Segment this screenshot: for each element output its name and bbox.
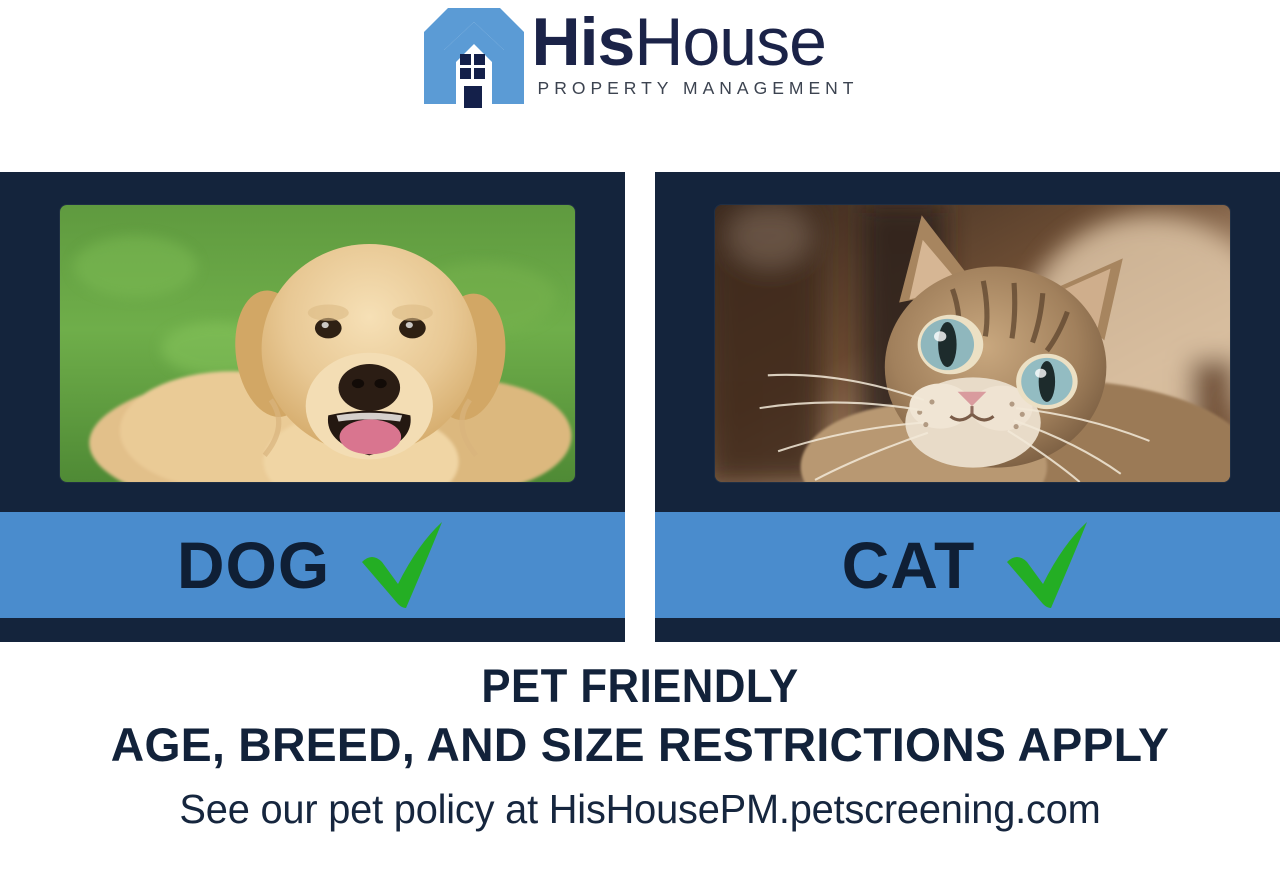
logo-lockup: His House PROPERTY MANAGEMENT xyxy=(422,8,859,108)
cat-photo-area xyxy=(655,172,1280,512)
brand-wordmark: His House PROPERTY MANAGEMENT xyxy=(532,8,859,99)
brand-name-light: House xyxy=(634,10,826,75)
pet-card-dog: DOG xyxy=(0,172,625,642)
headline-restrictions: AGE, BREED, AND SIZE RESTRICTIONS APPLY xyxy=(10,719,1271,772)
green-checkmark-icon xyxy=(1001,522,1093,608)
dog-label: DOG xyxy=(177,532,330,598)
golden-retriever-on-grass xyxy=(60,205,575,482)
pet-policy-url-line: See our pet policy at HisHousePM.petscre… xyxy=(19,785,1261,834)
house-w-logo-icon xyxy=(422,8,526,108)
dog-label-band: DOG xyxy=(0,512,625,618)
green-checkmark-icon xyxy=(356,522,448,608)
brand-name-bold: His xyxy=(532,10,635,75)
headline-pet-friendly: PET FRIENDLY xyxy=(45,660,1235,713)
pet-card-cat: CAT xyxy=(655,172,1280,642)
bottom-text-block: PET FRIENDLY AGE, BREED, AND SIZE RESTRI… xyxy=(0,660,1280,834)
pet-cards-row: DOG xyxy=(0,172,1280,644)
dog-photo-frame xyxy=(60,205,575,482)
dog-photo-area xyxy=(0,172,625,512)
cat-photo-frame xyxy=(715,205,1230,482)
brand-header: His House PROPERTY MANAGEMENT xyxy=(0,0,1280,118)
brand-tagline: PROPERTY MANAGEMENT xyxy=(532,78,859,99)
cat-label-band: CAT xyxy=(655,512,1280,618)
tabby-cat-closeup xyxy=(715,205,1230,482)
cat-card-footer xyxy=(655,618,1280,642)
cat-label: CAT xyxy=(842,532,976,598)
dog-card-footer xyxy=(0,618,625,642)
